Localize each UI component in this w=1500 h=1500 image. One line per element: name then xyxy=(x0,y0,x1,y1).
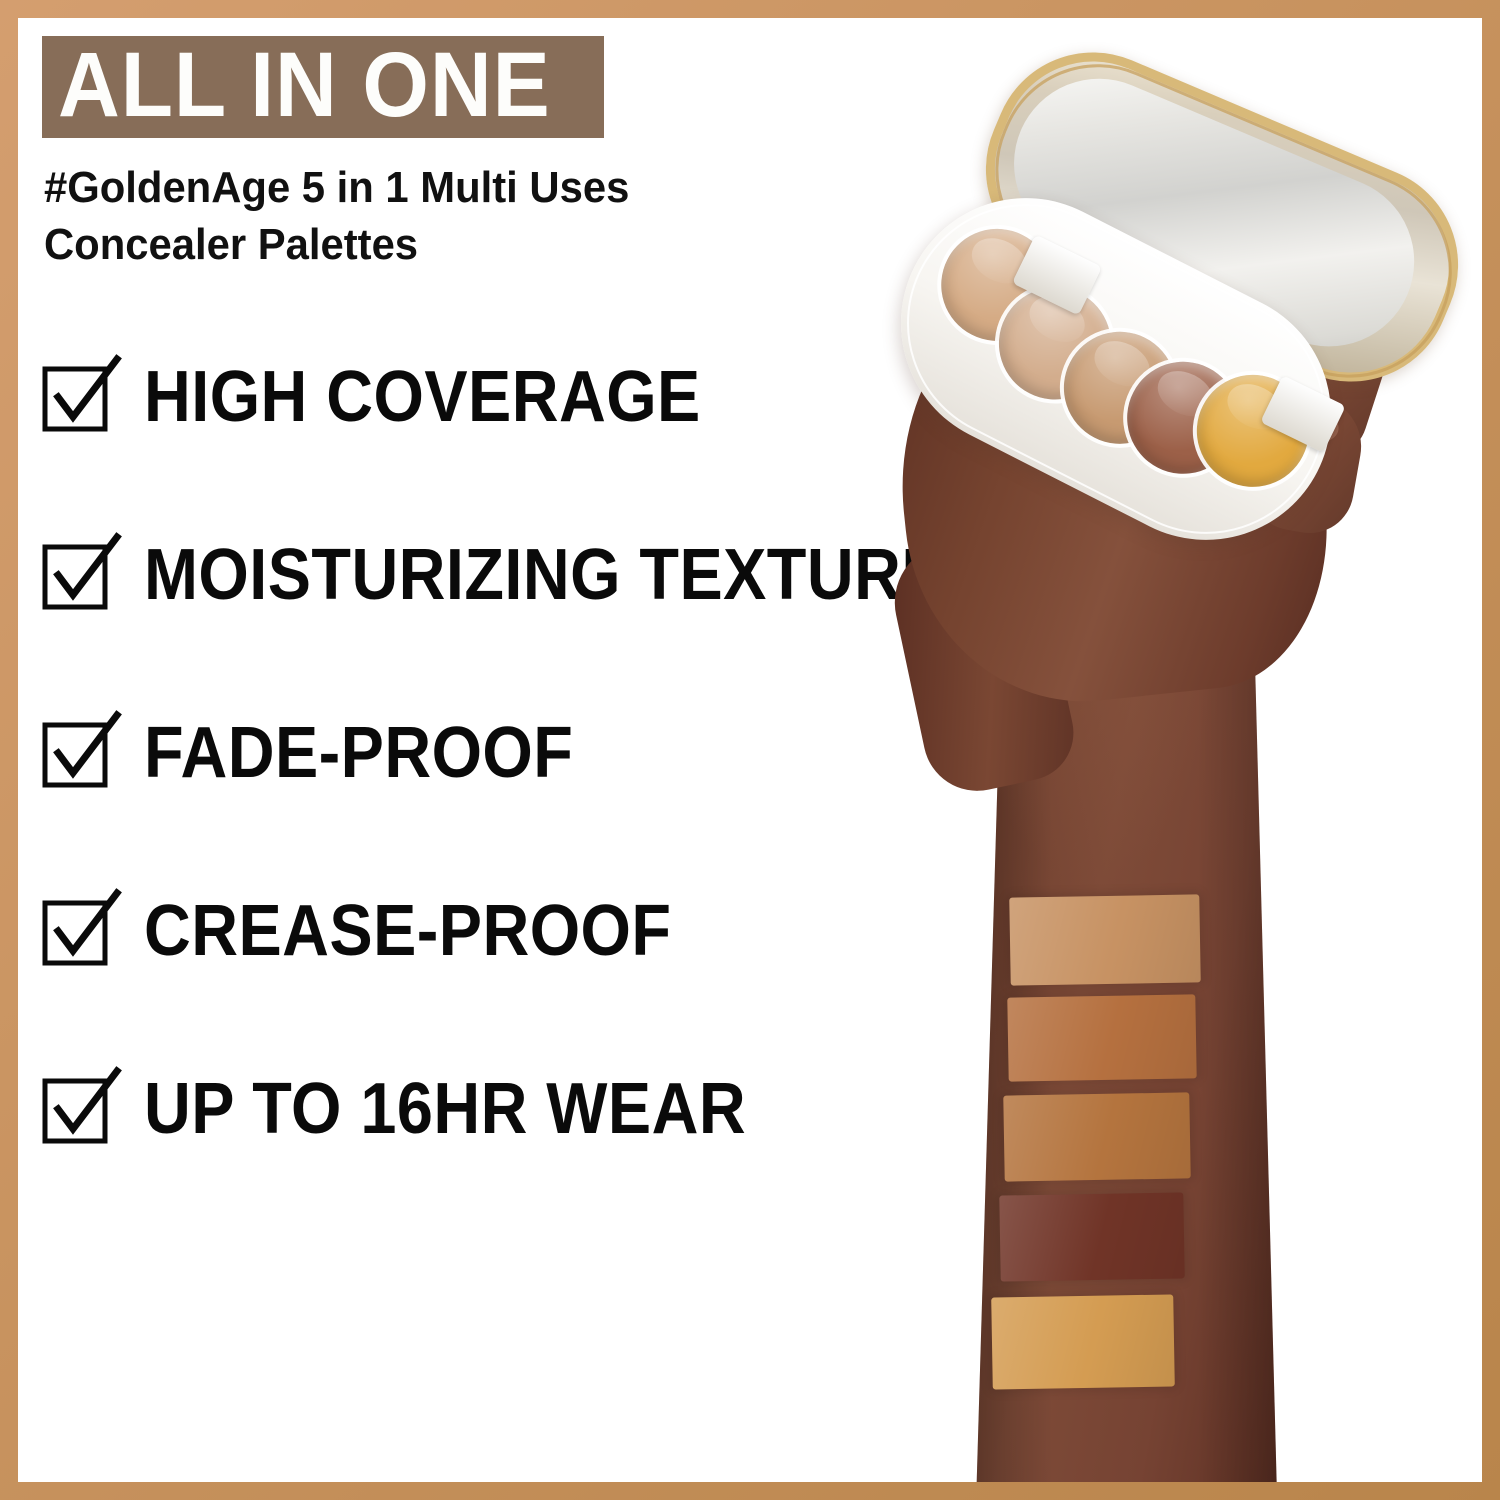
product-photo xyxy=(842,18,1482,1482)
title-banner: ALL IN ONE xyxy=(42,36,604,138)
product-subtitle-line-1: #GoldenAge 5 in 1 Multi Uses xyxy=(44,160,804,216)
product-subtitle: #GoldenAge 5 in 1 Multi Uses Concealer P… xyxy=(44,160,804,273)
feature-item: FADE-PROOF xyxy=(42,707,962,799)
product-subtitle-line-2: Concealer Palettes xyxy=(44,217,804,273)
checked-checkbox-icon xyxy=(42,1073,114,1145)
arm-swatch-2 xyxy=(1007,994,1196,1081)
checked-checkbox-icon xyxy=(42,539,114,611)
checked-checkbox-icon xyxy=(42,717,114,789)
arm-swatch-1 xyxy=(1009,894,1201,985)
feature-item: CREASE-PROOF xyxy=(42,885,962,977)
checked-checkbox-icon xyxy=(42,895,114,967)
feature-label: MOISTURIZING TEXTURE xyxy=(144,539,945,611)
page-title: ALL IN ONE xyxy=(58,42,551,128)
feature-label: FADE-PROOF xyxy=(144,717,573,789)
swatch-sheen xyxy=(1009,894,1201,985)
feature-label: HIGH COVERAGE xyxy=(144,361,701,433)
image-canvas: ALL IN ONE #GoldenAge 5 in 1 Multi Uses … xyxy=(18,18,1482,1482)
swatch-sheen xyxy=(1007,994,1196,1081)
feature-item: MOISTURIZING TEXTURE xyxy=(42,529,962,621)
swatch-sheen xyxy=(991,1294,1175,1389)
feature-list: HIGH COVERAGE MOISTURIZING TEXTURE xyxy=(42,351,962,1155)
arm-swatch-3 xyxy=(1003,1092,1190,1181)
marketing-text-column: ALL IN ONE #GoldenAge 5 in 1 Multi Uses … xyxy=(42,36,962,1155)
arm-swatch-4 xyxy=(999,1192,1184,1281)
feature-label: CREASE-PROOF xyxy=(144,895,671,967)
feature-item: UP TO 16HR WEAR xyxy=(42,1063,962,1155)
image-border-frame: ALL IN ONE #GoldenAge 5 in 1 Multi Uses … xyxy=(0,0,1500,1500)
feature-label: UP TO 16HR WEAR xyxy=(144,1073,746,1145)
feature-item: HIGH COVERAGE xyxy=(42,351,962,443)
compact-case xyxy=(870,126,1430,646)
swatch-sheen xyxy=(1003,1092,1190,1181)
checked-checkbox-icon xyxy=(42,361,114,433)
arm-swatch-5 xyxy=(991,1294,1175,1389)
swatch-sheen xyxy=(999,1192,1184,1281)
